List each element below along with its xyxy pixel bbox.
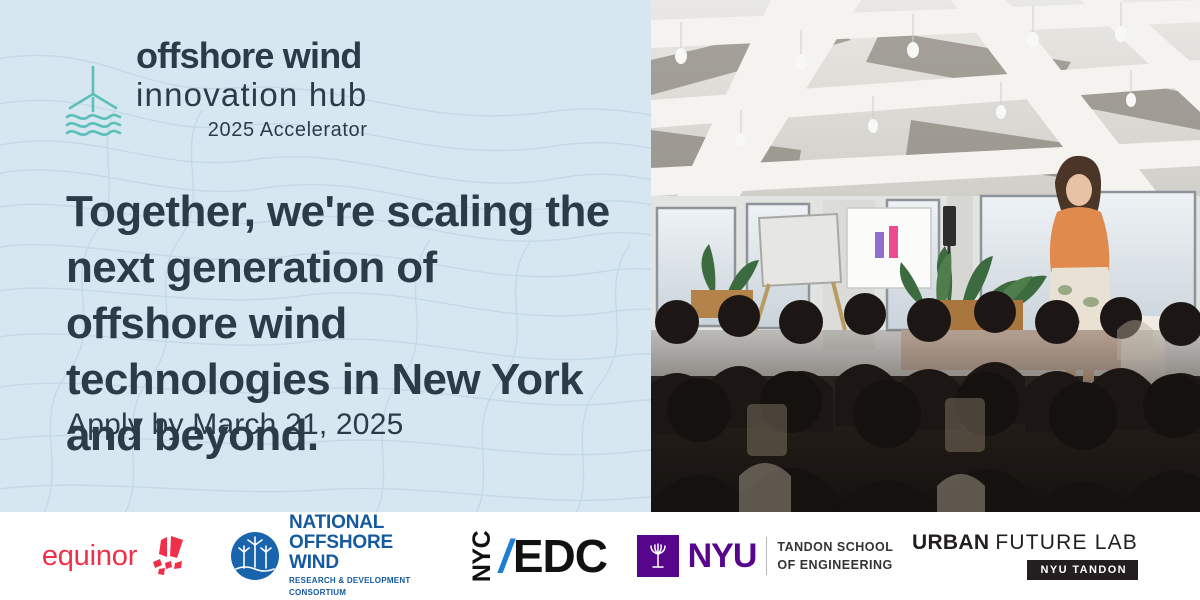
nowrdc-line-3: RESEARCH & DEVELOPMENT CONSORTIUM xyxy=(289,575,445,599)
wind-turbine-over-waves-icon xyxy=(62,64,124,142)
ufl-urban-text: URBAN xyxy=(912,532,989,553)
partner-logo-equinor: equinor xyxy=(0,512,230,600)
partner-logo-national-offshore-wind: NATIONAL OFFSHORE WIND RESEARCH & DEVELO… xyxy=(230,512,445,600)
nowrdc-line-1: NATIONAL xyxy=(289,513,445,533)
logo-line-innovation-hub: innovation hub xyxy=(136,76,367,114)
nyu-wordmark: NYU xyxy=(688,539,757,573)
equinor-wordmark: equinor xyxy=(42,542,137,571)
ufl-future-lab-text: FUTURE LAB xyxy=(995,532,1138,553)
nyu-divider xyxy=(766,537,767,575)
nyu-subtitle-line-1: TANDON SCHOOL xyxy=(777,540,893,554)
partner-logo-urban-future-lab: URBAN FUTURE LAB NYU TANDON xyxy=(900,512,1150,600)
nyu-torch-icon xyxy=(637,535,679,577)
wind-turbines-circle-icon xyxy=(230,531,280,581)
nycedc-edc-text: EDC xyxy=(513,533,607,579)
nycedc-nyc-text: NYC xyxy=(471,530,496,581)
application-deadline: Apply by March 21, 2025 xyxy=(67,408,403,442)
logo-line-accelerator-year: 2025 Accelerator xyxy=(136,119,367,142)
owih-logo: offshore wind innovation hub 2025 Accele… xyxy=(62,38,367,142)
nowrdc-line-2: OFFSHORE WIND xyxy=(289,533,445,573)
ufl-nyu-tandon-badge: NYU TANDON xyxy=(1027,560,1138,580)
partner-logo-nyu-tandon: NYU TANDON SCHOOL OF ENGINEERING xyxy=(630,512,900,600)
logo-line-offshore-wind: offshore wind xyxy=(136,38,367,74)
equinor-star-icon xyxy=(144,534,188,578)
partner-logo-nycedc: NYC / EDC xyxy=(445,512,630,600)
promotional-banner: offshore wind innovation hub 2025 Accele… xyxy=(0,0,1200,600)
partner-logo-bar: equinor xyxy=(0,512,1200,600)
nycedc-slash-icon: / xyxy=(499,533,512,579)
event-photo xyxy=(651,0,1200,512)
nyu-subtitle-line-2: OF ENGINEERING xyxy=(777,558,892,572)
left-content-panel: offshore wind innovation hub 2025 Accele… xyxy=(0,0,651,512)
